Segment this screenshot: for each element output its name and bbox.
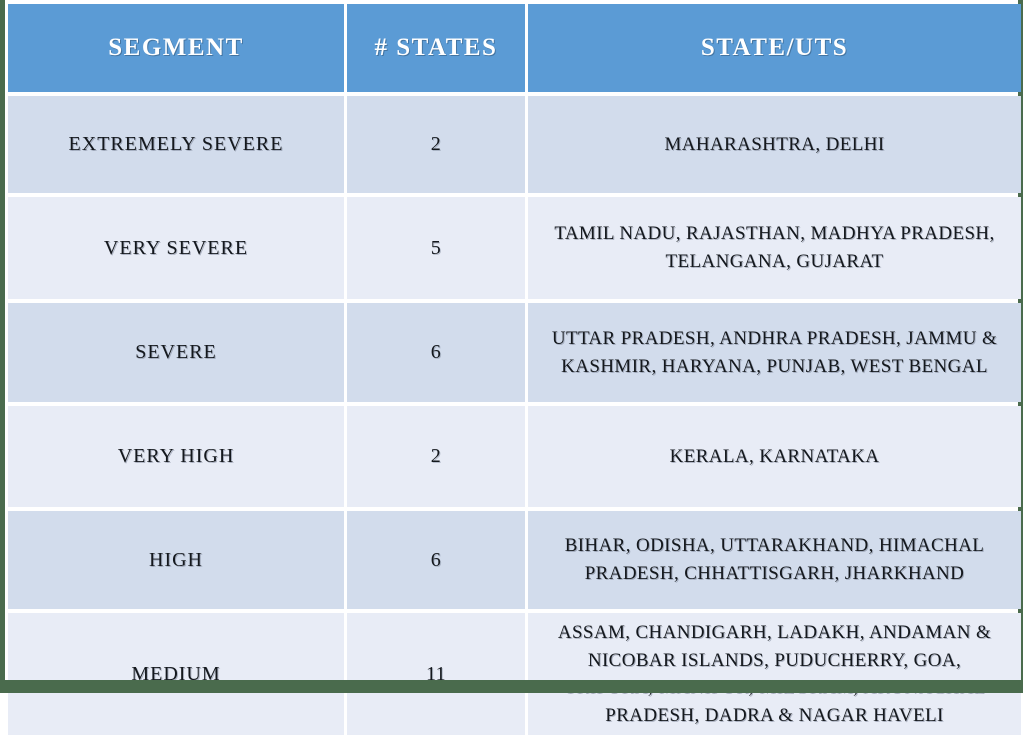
cell-states-count: 11 — [347, 613, 525, 735]
cell-segment: VERY HIGH — [8, 406, 344, 507]
cell-states-count: 2 — [347, 406, 525, 507]
table-body: EXTREMELY SEVERE 2 MAHARASHTRA, DELHI VE… — [8, 96, 1021, 735]
column-header-states-count: # STATES — [347, 4, 525, 92]
table-row: HIGH 6 BIHAR, ODISHA, UTTARAKHAND, HIMAC… — [8, 511, 1021, 609]
cell-segment: MEDIUM — [8, 613, 344, 735]
cell-states-count: 2 — [347, 96, 525, 193]
cell-state-uts: TAMIL NADU, RAJASTHAN, MADHYA PRADESH, T… — [528, 197, 1021, 299]
table-row: MEDIUM 11 ASSAM, CHANDIGARH, LADAKH, AND… — [8, 613, 1021, 735]
table-row: SEVERE 6 UTTAR PRADESH, ANDHRA PRADESH, … — [8, 303, 1021, 402]
segment-states-table: SEGMENT # STATES STATE/UTS EXTREMELY SEV… — [5, 0, 1023, 739]
bottom-accent-bar — [5, 680, 1023, 693]
table-header-row: SEGMENT # STATES STATE/UTS — [8, 4, 1021, 92]
cell-states-count: 6 — [347, 511, 525, 609]
cell-states-count: 6 — [347, 303, 525, 402]
cell-state-uts: UTTAR PRADESH, ANDHRA PRADESH, JAMMU & K… — [528, 303, 1021, 402]
cell-state-uts: KERALA, KARNATAKA — [528, 406, 1021, 507]
column-header-segment: SEGMENT — [8, 4, 344, 92]
cell-segment: HIGH — [8, 511, 344, 609]
cell-segment: SEVERE — [8, 303, 344, 402]
cell-segment: EXTREMELY SEVERE — [8, 96, 344, 193]
cell-state-uts: ASSAM, CHANDIGARH, LADAKH, ANDAMAN & NIC… — [528, 613, 1021, 735]
column-header-state-uts: STATE/UTS — [528, 4, 1021, 92]
cell-segment: VERY SEVERE — [8, 197, 344, 299]
table-header: SEGMENT # STATES STATE/UTS — [8, 4, 1021, 92]
cell-states-count: 5 — [347, 197, 525, 299]
table-row: VERY HIGH 2 KERALA, KARNATAKA — [8, 406, 1021, 507]
table-row: EXTREMELY SEVERE 2 MAHARASHTRA, DELHI — [8, 96, 1021, 193]
cell-state-uts: MAHARASHTRA, DELHI — [528, 96, 1021, 193]
table-page: SEGMENT # STATES STATE/UTS EXTREMELY SEV… — [0, 0, 1023, 693]
cell-state-uts: BIHAR, ODISHA, UTTARAKHAND, HIMACHAL PRA… — [528, 511, 1021, 609]
table-row: VERY SEVERE 5 TAMIL NADU, RAJASTHAN, MAD… — [8, 197, 1021, 299]
